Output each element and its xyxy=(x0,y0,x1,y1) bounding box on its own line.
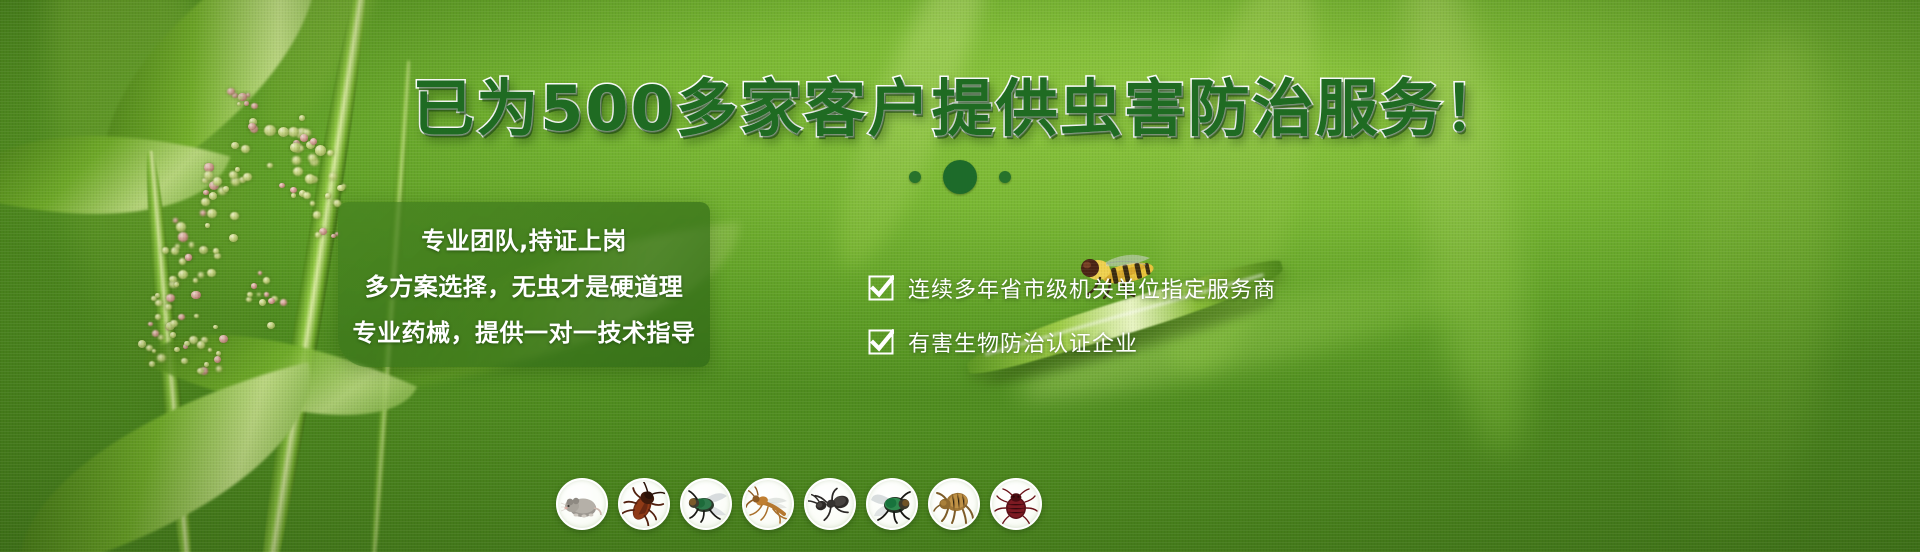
rodent-icon[interactable] xyxy=(556,478,608,530)
fly-glyph xyxy=(684,482,728,526)
pest-type-icon-strip xyxy=(556,478,1042,530)
blowfly-icon[interactable] xyxy=(866,478,918,530)
decorative-dot-large xyxy=(943,160,977,194)
page-title: 已为500多家客户提供虫害防治服务！ xyxy=(0,78,1920,140)
selling-point-line-3: 专业药械，提供一对一技术指导 xyxy=(353,313,696,348)
selling-point-line-1: 专业团队,持证上岗 xyxy=(421,221,627,256)
mosquito-icon[interactable] xyxy=(742,478,794,530)
selling-point-line-2: 多方案选择，无虫才是硬道理 xyxy=(365,267,684,302)
certification-feature-list: 连续多年省市级机关单位指定服务商 有害生物防治认证企业 xyxy=(868,272,1276,358)
feature-label: 有害生物防治认证企业 xyxy=(908,326,1138,358)
rodent-glyph xyxy=(560,482,604,526)
decorative-dot-small xyxy=(999,171,1011,183)
fly-icon[interactable] xyxy=(680,478,732,530)
ant-glyph xyxy=(808,482,852,526)
bedbug-icon[interactable] xyxy=(990,478,1042,530)
cockroach-icon[interactable] xyxy=(618,478,670,530)
blowfly-glyph xyxy=(870,482,914,526)
mosquito-glyph xyxy=(746,482,790,526)
list-item: 连续多年省市级机关单位指定服务商 xyxy=(868,272,1276,304)
decorative-dots xyxy=(0,160,1920,194)
flea-icon[interactable] xyxy=(928,478,980,530)
checkbox-checked-icon xyxy=(868,275,894,301)
headline-text: 已为500多家客户提供虫害防治服务！ xyxy=(412,72,1507,145)
flea-glyph xyxy=(932,482,976,526)
list-item: 有害生物防治认证企业 xyxy=(868,326,1276,358)
ant-icon[interactable] xyxy=(804,478,856,530)
selling-points-text-group: 专业团队,持证上岗 多方案选择，无虫才是硬道理 专业药械，提供一对一技术指导 xyxy=(338,202,710,367)
decorative-dot-small xyxy=(909,171,921,183)
bedbug-glyph xyxy=(994,482,1038,526)
checkbox-checked-icon xyxy=(868,329,894,355)
feature-label: 连续多年省市级机关单位指定服务商 xyxy=(908,272,1276,304)
pest-control-hero-banner: 已为500多家客户提供虫害防治服务！ 专业团队,持证上岗 多方案选择，无虫才是硬… xyxy=(0,0,1920,552)
cockroach-glyph xyxy=(622,482,666,526)
